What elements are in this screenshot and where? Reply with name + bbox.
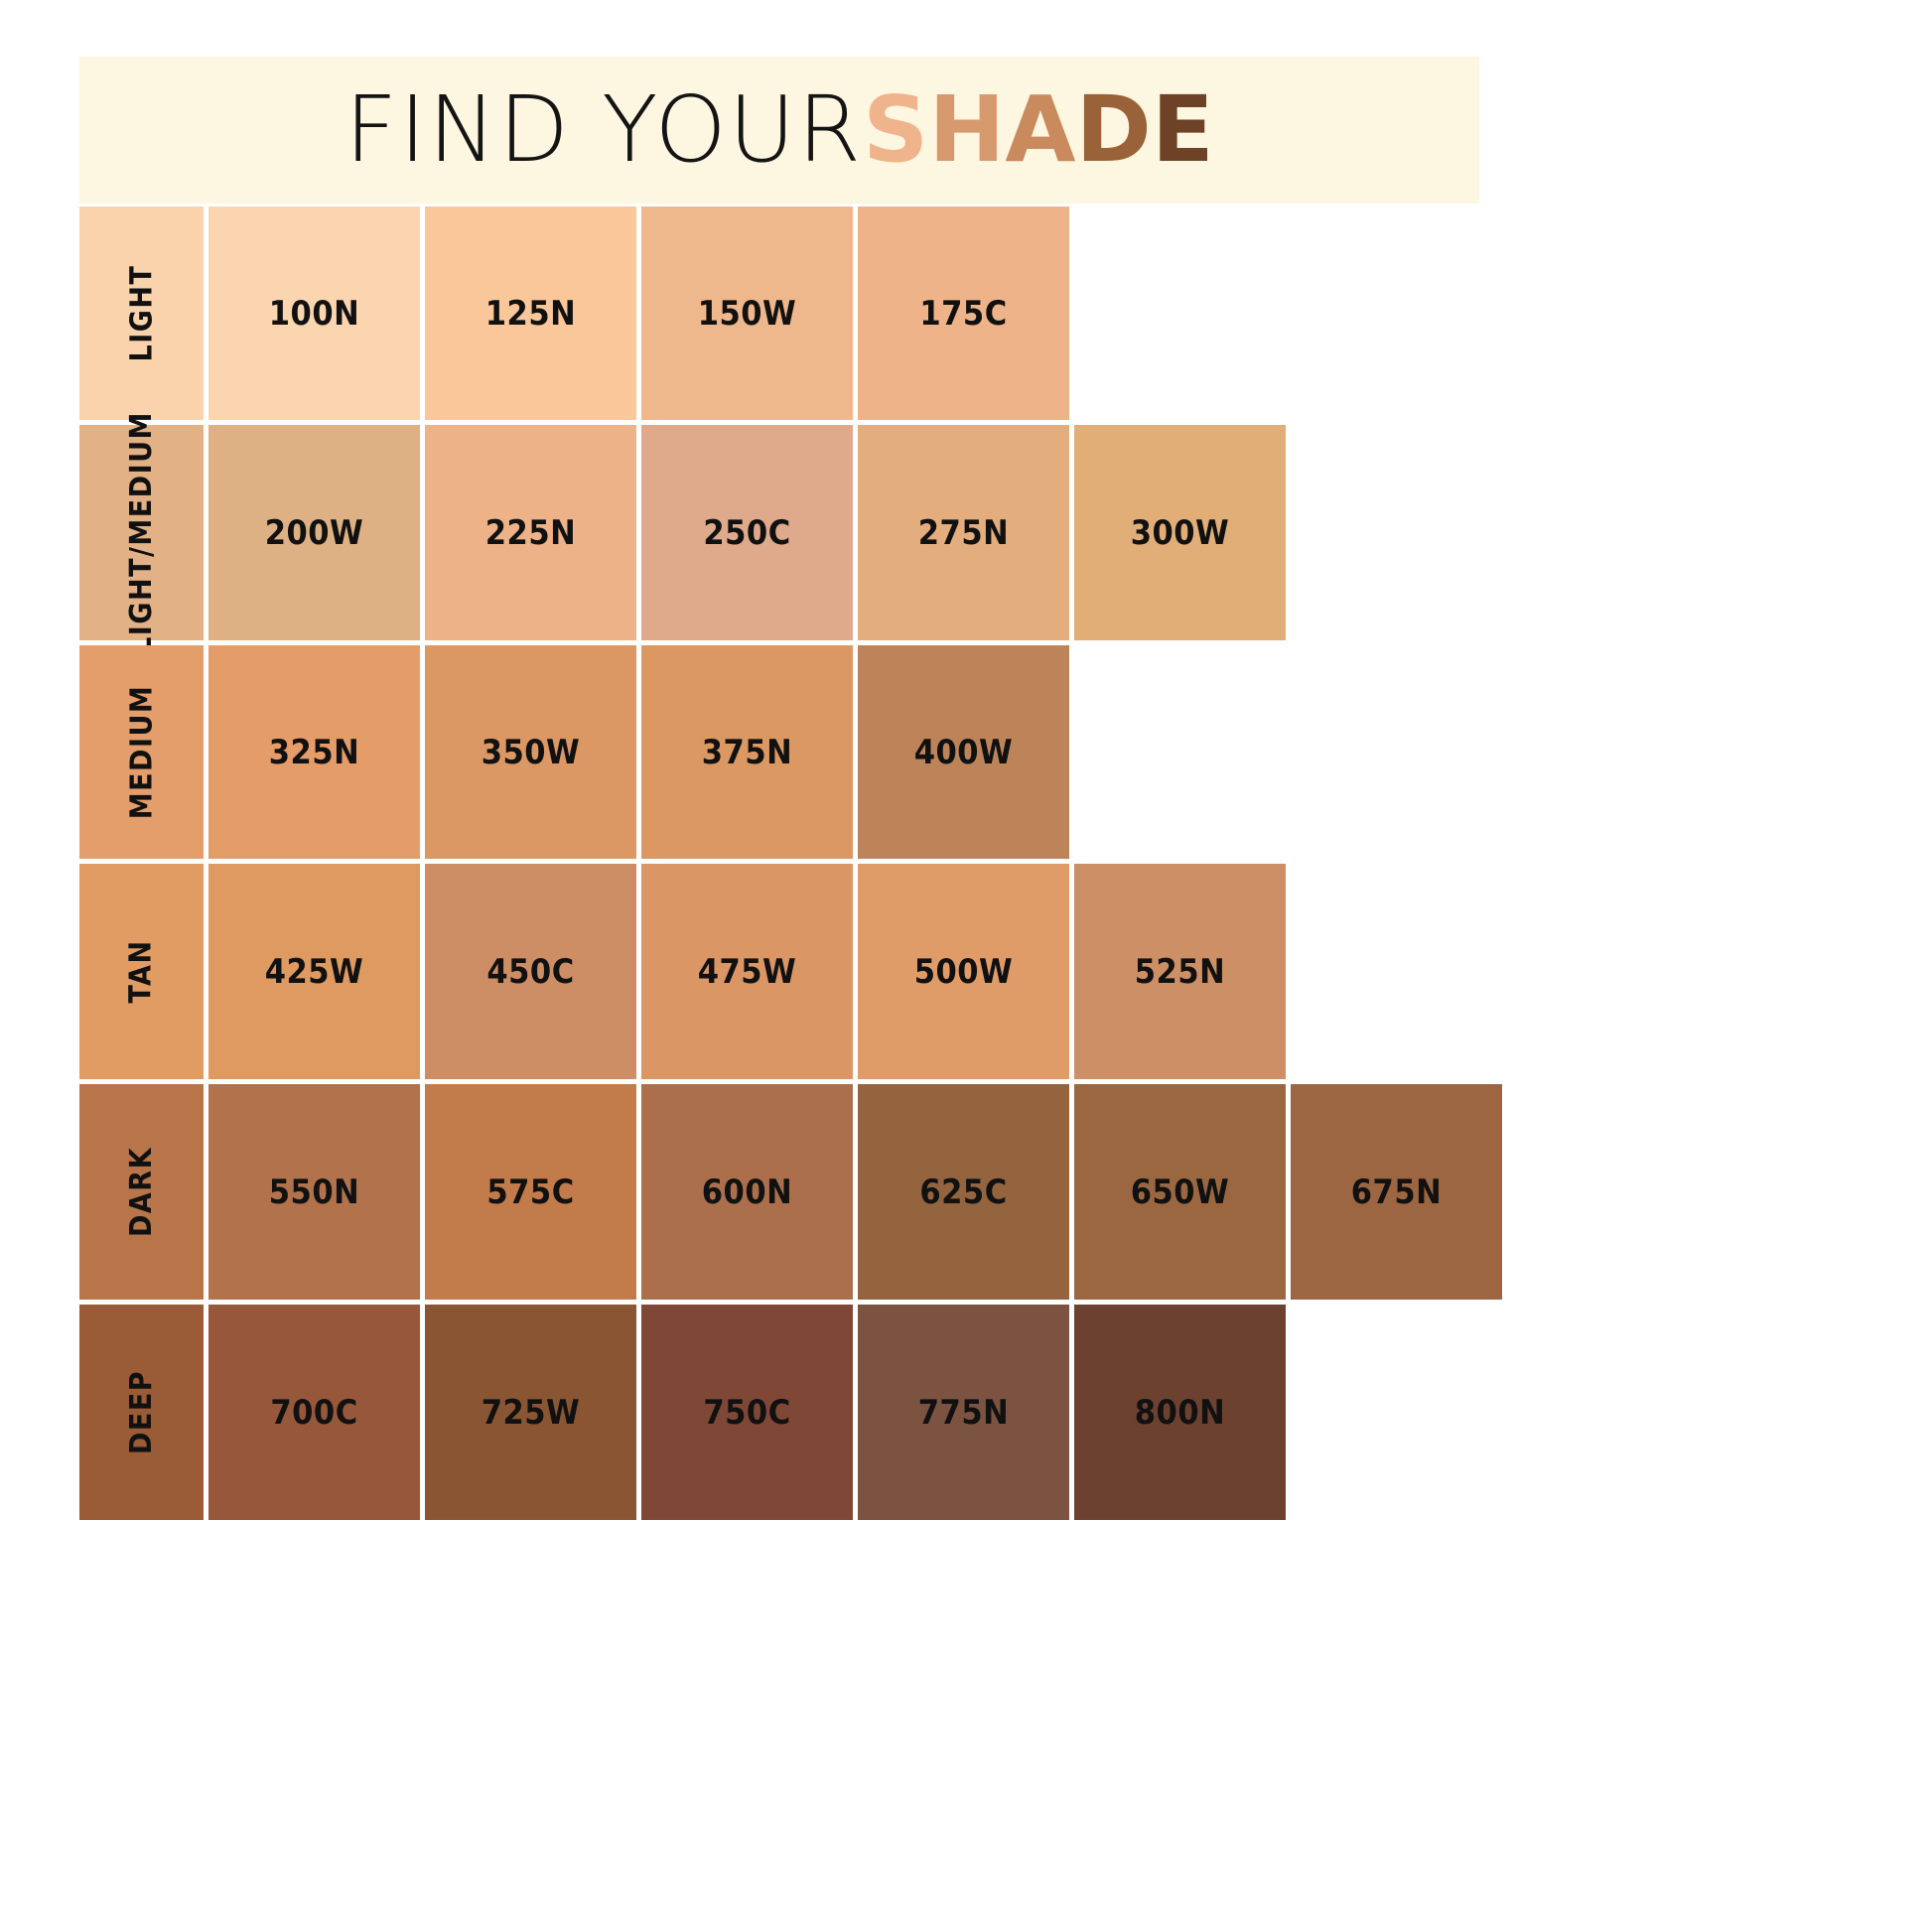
row-label-light-medium: LIGHT/MEDIUM: [79, 425, 204, 640]
shade-swatch-625c[interactable]: 625C: [858, 1084, 1069, 1300]
shade-row: LIGHT/MEDIUM200W225N250C275N300W: [79, 425, 1502, 640]
shade-row: LIGHT100N125N150W175C: [79, 207, 1502, 420]
row-label-text: LIGHT: [124, 265, 159, 362]
shade-swatch-325n[interactable]: 325N: [208, 645, 420, 859]
shade-swatch-725w[interactable]: 725W: [425, 1305, 636, 1520]
title-letter-a: A: [1005, 84, 1075, 176]
shade-swatch-125n[interactable]: 125N: [425, 207, 636, 420]
shade-code: 650W: [1131, 1173, 1230, 1212]
row-label-text: TAN: [124, 939, 159, 1003]
shade-swatch-750c[interactable]: 750C: [641, 1305, 853, 1520]
row-label-text: LIGHT/MEDIUM: [124, 411, 159, 654]
shade-code: 675N: [1351, 1173, 1442, 1212]
shade-swatch-375n[interactable]: 375N: [641, 645, 853, 859]
shade-chart-page: FIND YOUR S H A D E LIGHT100N125N150W175…: [0, 0, 1932, 1932]
shade-swatch-100n[interactable]: 100N: [208, 207, 420, 420]
shade-code: 350W: [482, 733, 581, 772]
shade-swatch-550n[interactable]: 550N: [208, 1084, 420, 1300]
shade-code: 275N: [918, 513, 1009, 553]
shade-code: 400W: [914, 733, 1014, 772]
shade-code: 750C: [703, 1393, 790, 1433]
shade-code: 575C: [486, 1173, 574, 1212]
title-letter-h: H: [928, 84, 1005, 176]
shade-row: DARK550N575C600N625C650W675N: [79, 1084, 1502, 1300]
shade-code: 200W: [265, 513, 364, 553]
shade-swatch-650w[interactable]: 650W: [1074, 1084, 1286, 1300]
shade-swatch-350w[interactable]: 350W: [425, 645, 636, 859]
shade-code: 700C: [270, 1393, 357, 1433]
shade-swatch-525n[interactable]: 525N: [1074, 864, 1286, 1079]
shade-swatch-150w[interactable]: 150W: [641, 207, 853, 420]
shade-code: 525N: [1135, 952, 1225, 992]
shade-code: 475W: [698, 952, 797, 992]
row-label-text: DARK: [124, 1147, 159, 1237]
shade-swatch-575c[interactable]: 575C: [425, 1084, 636, 1300]
row-label-tan: TAN: [79, 864, 204, 1079]
row-label-medium: MEDIUM: [79, 645, 204, 859]
shade-code: 150W: [698, 294, 797, 334]
shade-row: DEEP700C725W750C775N800N: [79, 1305, 1502, 1520]
shade-code: 375N: [702, 733, 792, 772]
shade-code: 300W: [1131, 513, 1230, 553]
shade-code: 725W: [482, 1393, 581, 1433]
title-letter-e: E: [1152, 84, 1214, 176]
shade-code: 100N: [269, 294, 359, 334]
shade-swatch-475w[interactable]: 475W: [641, 864, 853, 1079]
shade-code: 625C: [919, 1173, 1007, 1212]
shade-swatch-300w[interactable]: 300W: [1074, 425, 1286, 640]
shade-swatch-250c[interactable]: 250C: [641, 425, 853, 640]
header-banner: FIND YOUR S H A D E: [79, 57, 1479, 204]
shade-swatch-275n[interactable]: 275N: [858, 425, 1069, 640]
shade-code: 450C: [486, 952, 574, 992]
shade-code: 550N: [269, 1173, 359, 1212]
shade-code: 250C: [703, 513, 790, 553]
shade-row: MEDIUM325N350W375N400W: [79, 645, 1502, 859]
shade-swatch-800n[interactable]: 800N: [1074, 1305, 1286, 1520]
shade-code: 500W: [914, 952, 1014, 992]
page-title: FIND YOUR S H A D E: [345, 84, 1214, 176]
row-label-dark: DARK: [79, 1084, 204, 1300]
shade-swatch-775n[interactable]: 775N: [858, 1305, 1069, 1520]
shade-swatch-425w[interactable]: 425W: [208, 864, 420, 1079]
shade-swatch-175c[interactable]: 175C: [858, 207, 1069, 420]
row-label-text: DEEP: [124, 1370, 159, 1454]
shade-swatch-700c[interactable]: 700C: [208, 1305, 420, 1520]
title-letter-d: D: [1076, 84, 1152, 176]
shade-code: 125N: [485, 294, 576, 334]
shade-code: 600N: [702, 1173, 792, 1212]
shade-swatch-200w[interactable]: 200W: [208, 425, 420, 640]
title-letter-s: S: [863, 84, 928, 176]
row-label-text: MEDIUM: [124, 685, 159, 820]
row-label-light: LIGHT: [79, 207, 204, 420]
shade-swatch-600n[interactable]: 600N: [641, 1084, 853, 1300]
shade-swatch-500w[interactable]: 500W: [858, 864, 1069, 1079]
shade-code: 325N: [269, 733, 359, 772]
shade-code: 175C: [919, 294, 1007, 334]
shade-swatch-400w[interactable]: 400W: [858, 645, 1069, 859]
shade-code: 800N: [1135, 1393, 1225, 1433]
row-label-deep: DEEP: [79, 1305, 204, 1520]
title-plain-text: FIND YOUR: [345, 84, 863, 176]
shade-swatch-450c[interactable]: 450C: [425, 864, 636, 1079]
shade-swatch-675n[interactable]: 675N: [1291, 1084, 1502, 1300]
shade-row: TAN425W450C475W500W525N: [79, 864, 1502, 1079]
shade-swatch-225n[interactable]: 225N: [425, 425, 636, 640]
shade-code: 225N: [485, 513, 576, 553]
shade-grid: LIGHT100N125N150W175CLIGHT/MEDIUM200W225…: [79, 207, 1502, 1525]
shade-code: 425W: [265, 952, 364, 992]
shade-code: 775N: [918, 1393, 1009, 1433]
